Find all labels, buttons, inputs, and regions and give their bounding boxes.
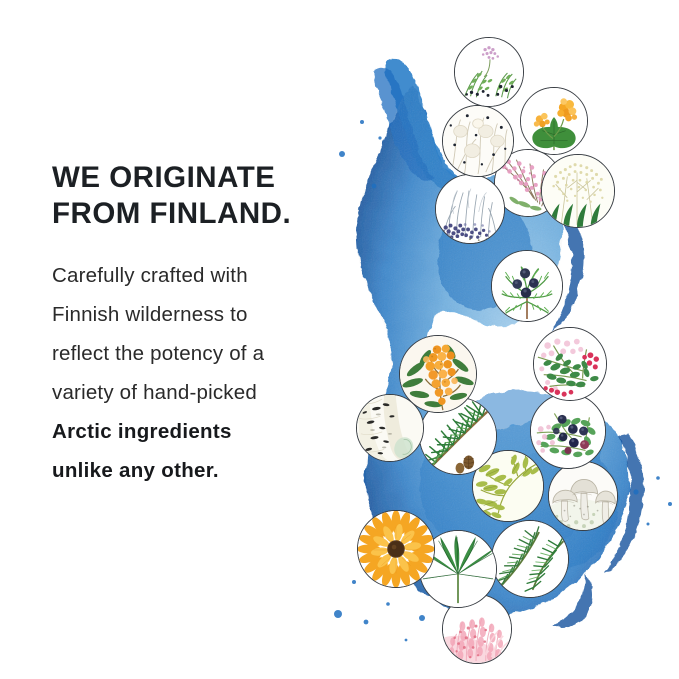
spruce-illustration [492, 521, 568, 597]
body-line-3: reflect the potency of a [52, 334, 357, 373]
body-line-6: unlike any other. [52, 451, 357, 490]
medallion-mushrooms [548, 461, 618, 531]
poster-canvas: WE ORIGINATE FROM FINLAND. Carefully cra… [0, 0, 679, 679]
medallion-lingonberry [533, 327, 607, 401]
medallion-cotton-grass [442, 105, 514, 177]
body-line-1: Carefully crafted with [52, 256, 357, 295]
juniper-illustration [492, 251, 562, 321]
medallion-meadowsweet [541, 154, 615, 228]
mushrooms-illustration [549, 462, 617, 530]
page-title: WE ORIGINATE FROM FINLAND. [52, 160, 357, 232]
body-line-2: Finnish wilderness to [52, 295, 357, 334]
body-line-4: variety of hand-picked [52, 373, 357, 412]
crowberry-heather-illustration [455, 38, 523, 106]
body-line-5: Arctic ingredients [52, 412, 357, 451]
medallion-blueberry [530, 393, 606, 469]
medallion-bilberry-sprig [435, 174, 505, 244]
text-column: WE ORIGINATE FROM FINLAND. Carefully cra… [52, 160, 357, 490]
medallion-sea-buckthorn [399, 335, 477, 413]
calendula-illustration [358, 511, 434, 587]
medallion-calendula [357, 510, 435, 588]
body-copy: Carefully crafted with Finnish wildernes… [52, 256, 357, 490]
bilberry-sprig-illustration [436, 175, 504, 243]
blueberry-illustration [531, 394, 605, 468]
medallion-spruce [491, 520, 569, 598]
birch-bark-illustration [357, 395, 423, 461]
cloudberry-illustration [521, 88, 587, 154]
medallion-crowberry-heather [454, 37, 524, 107]
lingonberry-illustration [534, 328, 606, 400]
sea-buckthorn-illustration [400, 336, 476, 412]
medallion-cloudberry [520, 87, 588, 155]
medallion-juniper [491, 250, 563, 322]
cotton-grass-illustration [443, 106, 513, 176]
meadowsweet-illustration [542, 155, 614, 227]
